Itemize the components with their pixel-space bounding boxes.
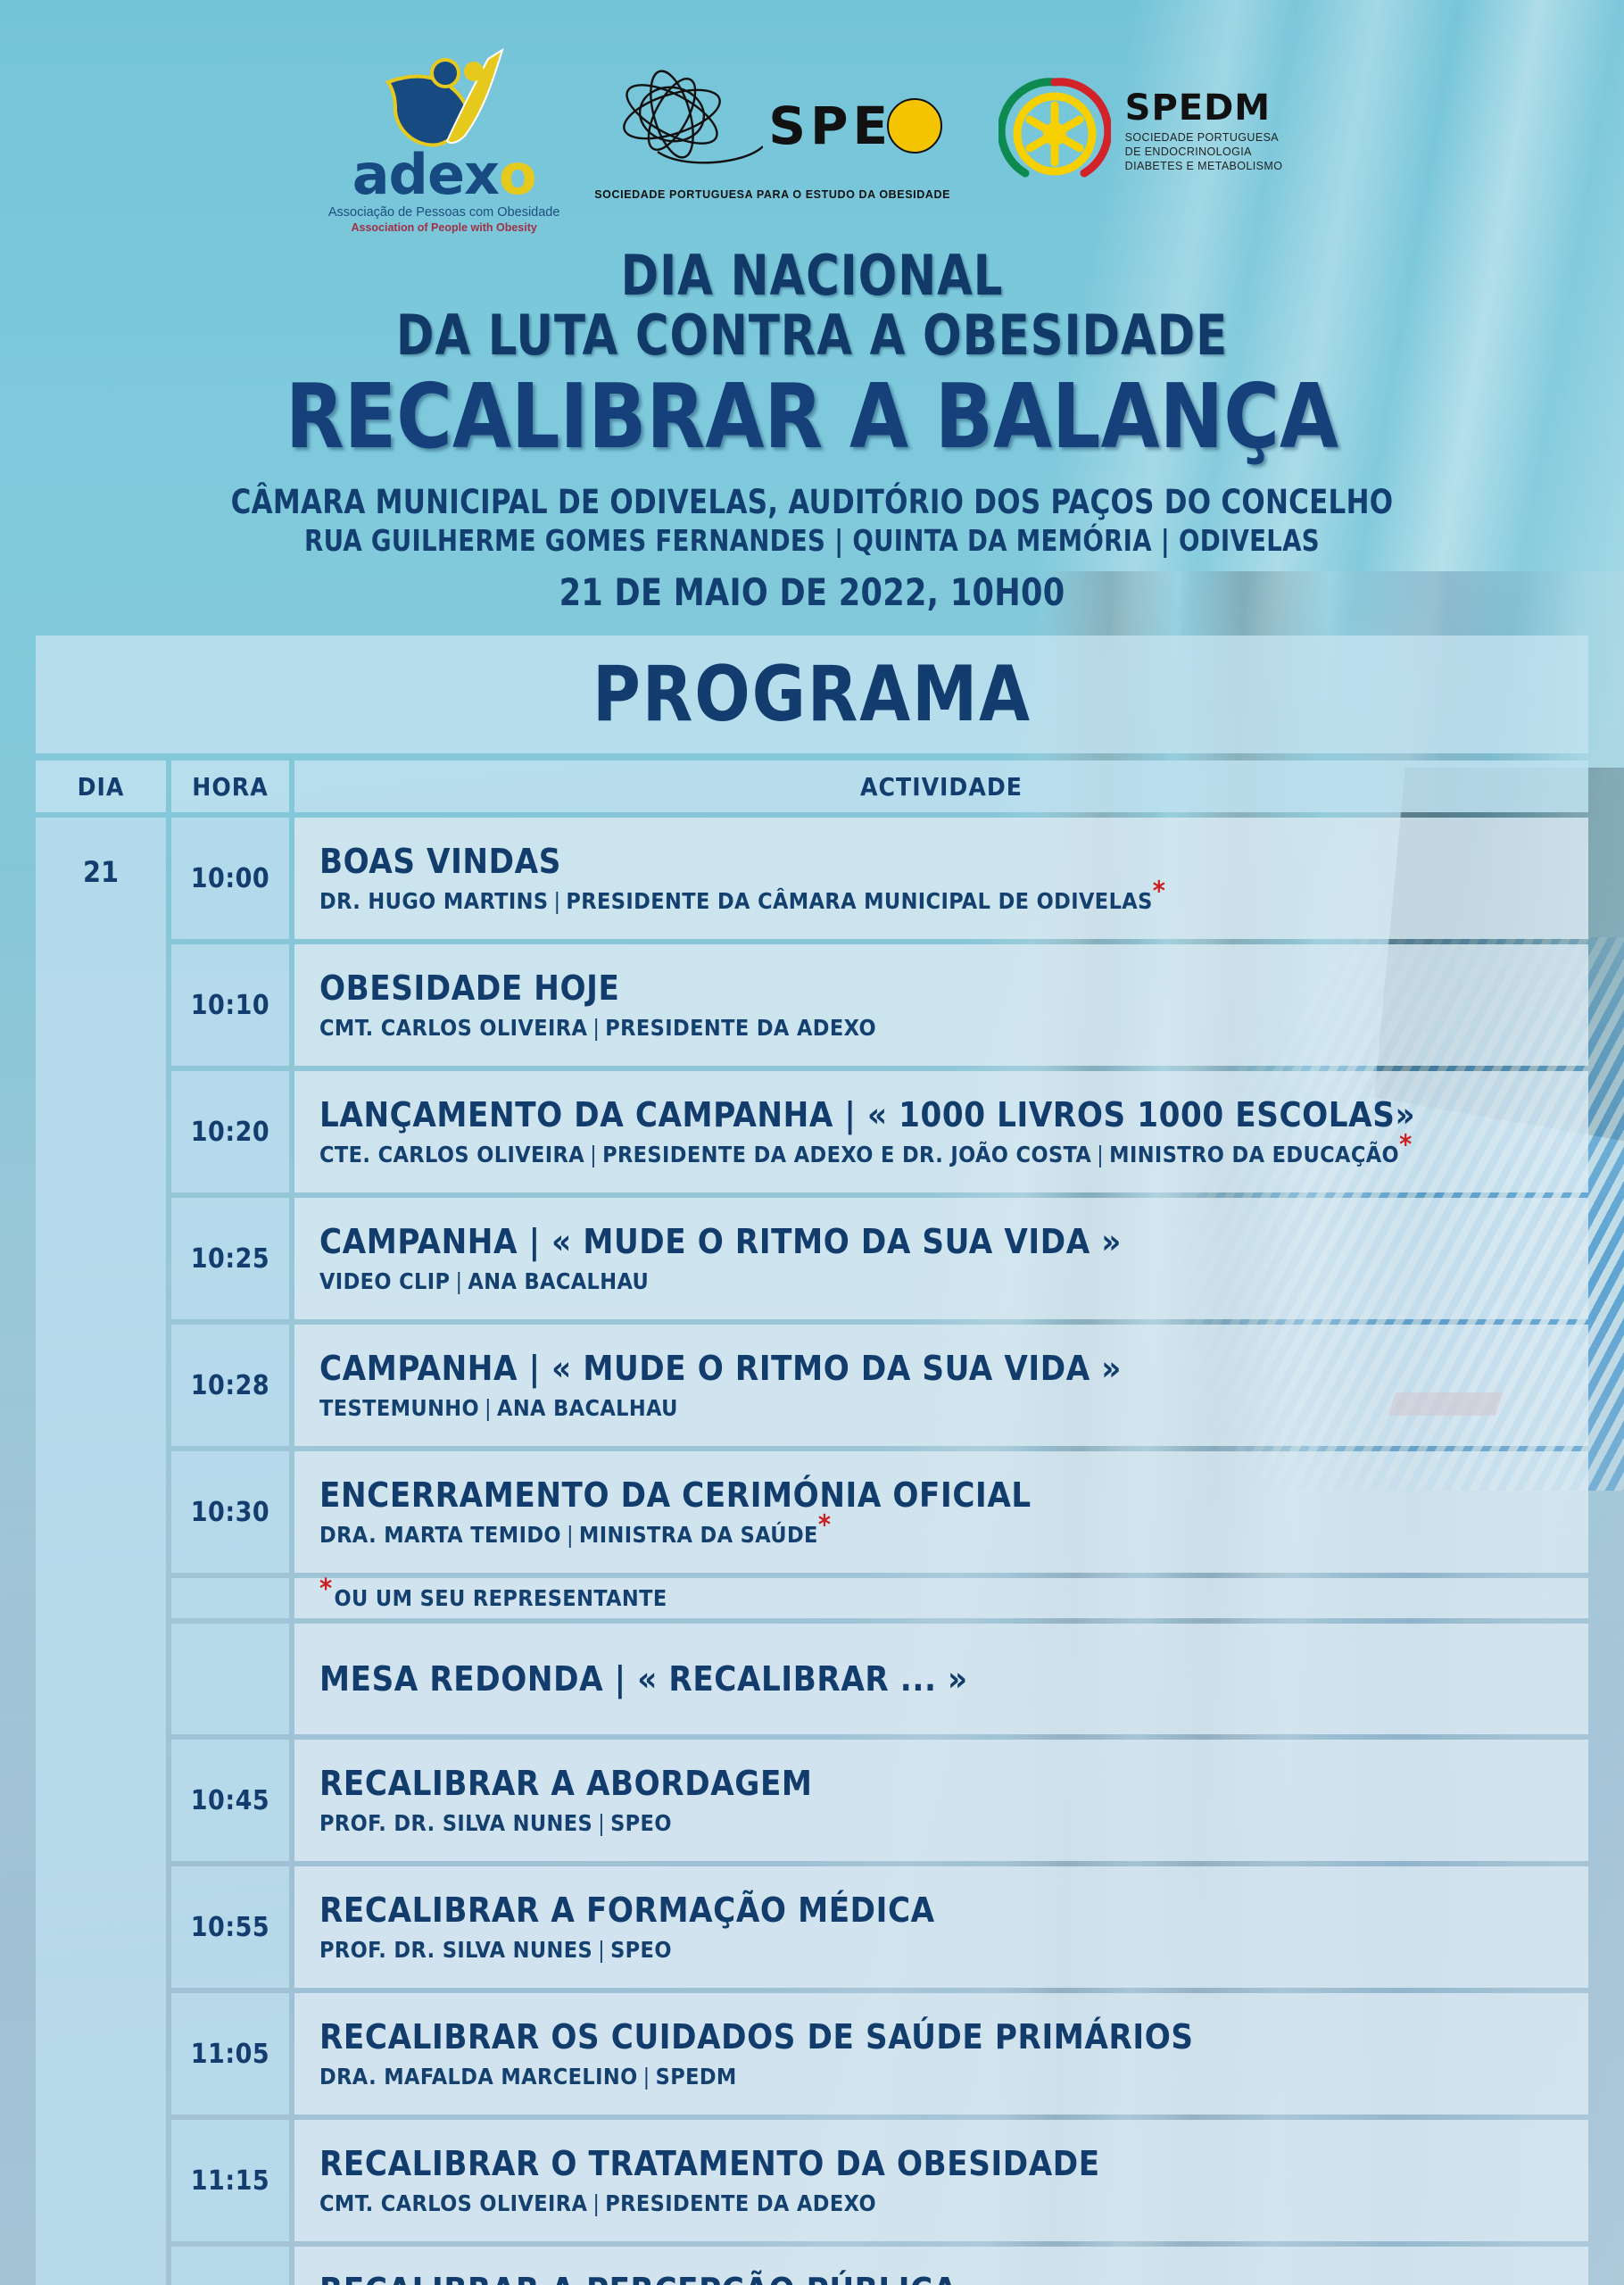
adexo-tagline-pt: Associação de Pessoas com Obesidade: [328, 205, 560, 220]
spedm-tagline-line2: DE ENDOCRINOLOGIA: [1125, 145, 1283, 159]
speo-wordmark: SPE: [768, 96, 892, 156]
adexo-wordmark: adexo: [352, 152, 536, 199]
activity-speaker: CTE. CARLOS OLIVEIRA|PRESIDENTE DA ADEXO…: [319, 1142, 1588, 1168]
separator-pipe: |: [587, 1015, 605, 1041]
spedm-tagline-line1: SOCIEDADE PORTUGUESA: [1125, 130, 1283, 145]
row-activity: RECALIBRAR A ABORDAGEMPROF. DR. SILVA NU…: [294, 1740, 1588, 1861]
asterisk-icon: *: [1399, 1130, 1413, 1161]
table-row: 11:25RECALIBRAR A PERCEPÇÃO PÚBLICAADEXO…: [171, 2247, 1588, 2285]
row-activity: BOAS VINDASDR. HUGO MARTINS|PRESIDENTE D…: [294, 818, 1588, 939]
separator-pipe: |: [638, 2064, 656, 2090]
table-rows: 10:00BOAS VINDASDR. HUGO MARTINS|PRESIDE…: [171, 818, 1588, 2285]
activity-speaker: DR. HUGO MARTINS|PRESIDENTE DA CÂMARA MU…: [319, 888, 1588, 915]
table-row: 10:20LANÇAMENTO DA CAMPANHA | « 1000 LIV…: [171, 1071, 1588, 1192]
row-activity: ENCERRAMENTO DA CERIMÓNIA OFICIALDRA. MA…: [294, 1451, 1588, 1573]
programa-heading: PROGRAMA: [592, 650, 1032, 739]
row-time: 10:10: [171, 944, 289, 1066]
asterisk-icon: *: [319, 1574, 333, 1605]
row-activity: OBESIDADE HOJECMT. CARLOS OLIVEIRA|PRESI…: [294, 944, 1588, 1066]
title-block: DIA NACIONAL DA LUTA CONTRA A OBESIDADE …: [0, 243, 1624, 614]
separator-pipe: |: [561, 1522, 579, 1548]
adexo-tagline-en: Association of People with Obesity: [351, 221, 536, 234]
row-time: 10:30: [171, 1451, 289, 1573]
table-row: MESA REDONDA | « RECALIBRAR ... »: [171, 1624, 1588, 1734]
separator-pipe: |: [1091, 1142, 1109, 1167]
activity-title: RECALIBRAR A FORMAÇÃO MÉDICA: [319, 1890, 1588, 1931]
asterisk-icon: *: [818, 1510, 832, 1541]
table-body: 21 10:00BOAS VINDASDR. HUGO MARTINS|PRES…: [36, 818, 1588, 2285]
separator-pipe: |: [587, 2190, 605, 2216]
activity-title: ENCERRAMENTO DA CERIMÓNIA OFICIAL: [319, 1475, 1588, 1516]
row-activity: RECALIBRAR A FORMAÇÃO MÉDICAPROF. DR. SI…: [294, 1866, 1588, 1988]
row-time: 10:55: [171, 1866, 289, 1988]
activity-title: MESA REDONDA | « RECALIBRAR ... »: [319, 1659, 1588, 1699]
asterisk-icon: *: [1153, 877, 1166, 908]
activity-title: RECALIBRAR O TRATAMENTO DA OBESIDADE: [319, 2144, 1588, 2184]
adexo-wordmark-tail: o: [499, 142, 536, 207]
activity-title: RECALIBRAR OS CUIDADOS DE SAÚDE PRIMÁRIO…: [319, 2017, 1588, 2057]
activity-speaker: CMT. CARLOS OLIVEIRA|PRESIDENTE DA ADEXO: [319, 1015, 1588, 1042]
table-row: *OU UM SEU REPRESENTANTE: [171, 1578, 1588, 1618]
table-row: 11:15RECALIBRAR O TRATAMENTO DA OBESIDAD…: [171, 2120, 1588, 2241]
column-header-dia: DIA: [36, 760, 166, 812]
table-row: 10:25CAMPANHA | « MUDE O RITMO DA SUA VI…: [171, 1198, 1588, 1319]
row-activity: *OU UM SEU REPRESENTANTE: [294, 1578, 1588, 1618]
row-time: 10:20: [171, 1071, 289, 1192]
row-activity: CAMPANHA | « MUDE O RITMO DA SUA VIDA »T…: [294, 1325, 1588, 1446]
row-time: [171, 1624, 289, 1734]
activity-title: OBESIDADE HOJE: [319, 968, 1588, 1009]
table-row: 10:10OBESIDADE HOJECMT. CARLOS OLIVEIRA|…: [171, 944, 1588, 1066]
activity-title: LANÇAMENTO DA CAMPANHA | « 1000 LIVROS 1…: [319, 1095, 1588, 1135]
logo-strip: adexo Associação de Pessoas com Obesidad…: [0, 43, 1624, 234]
activity-speaker: PROF. DR. SILVA NUNES|SPEO: [319, 1810, 1588, 1837]
speo-logo: SPE SOCIEDADE PORTUGUESA PARA O ESTUDO D…: [599, 70, 947, 201]
title-line-2: DA LUTA CONTRA A OBESIDADE: [65, 303, 1559, 368]
address-line: RUA GUILHERME GOMES FERNANDES | QUINTA D…: [57, 523, 1568, 558]
date-line: 21 DE MAIO DE 2022, 10H00: [57, 570, 1568, 614]
separator-pipe: |: [450, 1268, 468, 1294]
row-time: 10:00: [171, 818, 289, 939]
separator-pipe: |: [548, 888, 566, 914]
programme-table: DIA HORA ACTIVIDADE 21 10:00BOAS VINDASD…: [36, 760, 1588, 2285]
speo-atom-icon: [602, 70, 763, 181]
adexo-figure-icon: [369, 43, 520, 150]
dia-cell: 21: [36, 818, 166, 2285]
spedm-text-block: SPEDM SOCIEDADE PORTUGUESA DE ENDOCRINOL…: [1125, 90, 1283, 173]
adexo-wordmark-text: adex: [352, 142, 499, 207]
speo-tagline: SOCIEDADE PORTUGUESA PARA O ESTUDO DA OB…: [594, 188, 950, 201]
column-header-hora: HORA: [171, 760, 289, 812]
programa-banner: PROGRAMA: [36, 636, 1588, 753]
spedm-tagline-line3: DIABETES E METABOLISMO: [1125, 159, 1283, 173]
table-row: 10:45RECALIBRAR A ABORDAGEMPROF. DR. SIL…: [171, 1740, 1588, 1861]
row-activity: MESA REDONDA | « RECALIBRAR ... »: [294, 1624, 1588, 1734]
activity-title: BOAS VINDAS: [319, 842, 1588, 882]
row-activity: RECALIBRAR O TRATAMENTO DA OBESIDADECMT.…: [294, 2120, 1588, 2241]
row-time: 11:25: [171, 2247, 289, 2285]
activity-title: RECALIBRAR A PERCEPÇÃO PÚBLICA: [319, 2271, 1588, 2285]
table-row: 10:55RECALIBRAR A FORMAÇÃO MÉDICAPROF. D…: [171, 1866, 1588, 1988]
spedm-logo: SPEDM SOCIEDADE PORTUGUESA DE ENDOCRINOL…: [998, 43, 1283, 187]
activity-title: RECALIBRAR A ABORDAGEM: [319, 1764, 1588, 1804]
table-header-row: DIA HORA ACTIVIDADE: [36, 760, 1588, 812]
spedm-tagline: SOCIEDADE PORTUGUESA DE ENDOCRINOLOGIA D…: [1125, 130, 1283, 173]
column-header-actividade: ACTIVIDADE: [294, 760, 1588, 812]
venue-line: CÂMARA MUNICIPAL DE ODIVELAS, AUDITÓRIO …: [57, 483, 1568, 521]
spedm-row: SPEDM SOCIEDADE PORTUGUESA DE ENDOCRINOL…: [998, 75, 1283, 187]
row-activity: RECALIBRAR A PERCEPÇÃO PÚBLICAADEXO|SPEO…: [294, 2247, 1588, 2285]
spedm-wordmark: SPEDM: [1125, 90, 1283, 126]
footnote-text: *OU UM SEU REPRESENTANTE: [319, 1585, 1588, 1611]
activity-title: CAMPANHA | « MUDE O RITMO DA SUA VIDA »: [319, 1349, 1588, 1389]
separator-pipe: |: [592, 1937, 610, 1963]
speo-yellow-dot-icon: [887, 98, 942, 154]
row-activity: LANÇAMENTO DA CAMPANHA | « 1000 LIVROS 1…: [294, 1071, 1588, 1192]
adexo-logo: adexo Associação de Pessoas com Obesidad…: [342, 43, 547, 234]
separator-pipe: |: [592, 1810, 610, 1836]
poster-root: adexo Associação de Pessoas com Obesidad…: [0, 0, 1624, 2285]
activity-speaker: VIDEO CLIP|ANA BACALHAU: [319, 1268, 1588, 1295]
table-row: 10:28CAMPANHA | « MUDE O RITMO DA SUA VI…: [171, 1325, 1588, 1446]
row-time: [171, 1578, 289, 1618]
activity-speaker: DRA. MARTA TEMIDO|MINISTRA DA SAÚDE*: [319, 1522, 1588, 1549]
activity-title: CAMPANHA | « MUDE O RITMO DA SUA VIDA »: [319, 1222, 1588, 1262]
activity-speaker: CMT. CARLOS OLIVEIRA|PRESIDENTE DA ADEXO: [319, 2190, 1588, 2217]
row-activity: CAMPANHA | « MUDE O RITMO DA SUA VIDA »V…: [294, 1198, 1588, 1319]
row-activity: RECALIBRAR OS CUIDADOS DE SAÚDE PRIMÁRIO…: [294, 1993, 1588, 2115]
activity-speaker: DRA. MAFALDA MARCELINO|SPEDM: [319, 2064, 1588, 2090]
separator-pipe: |: [479, 1395, 497, 1421]
row-time: 11:15: [171, 2120, 289, 2241]
separator-pipe: |: [584, 1142, 602, 1167]
activity-speaker: PROF. DR. SILVA NUNES|SPEO: [319, 1937, 1588, 1964]
row-time: 10:28: [171, 1325, 289, 1446]
row-time: 10:45: [171, 1740, 289, 1861]
speo-mark-row: SPE: [602, 70, 942, 181]
row-time: 11:05: [171, 1993, 289, 2115]
table-row: 10:00BOAS VINDASDR. HUGO MARTINS|PRESIDE…: [171, 818, 1588, 939]
title-main: RECALIBRAR A BALANÇA: [41, 364, 1584, 469]
spedm-emblem-icon: [998, 75, 1111, 187]
row-time: 10:25: [171, 1198, 289, 1319]
activity-speaker: TESTEMUNHO|ANA BACALHAU: [319, 1395, 1588, 1422]
title-line-1: DIA NACIONAL: [65, 243, 1559, 308]
table-row: 11:05RECALIBRAR OS CUIDADOS DE SAÚDE PRI…: [171, 1993, 1588, 2115]
table-row: 10:30ENCERRAMENTO DA CERIMÓNIA OFICIALDR…: [171, 1451, 1588, 1573]
